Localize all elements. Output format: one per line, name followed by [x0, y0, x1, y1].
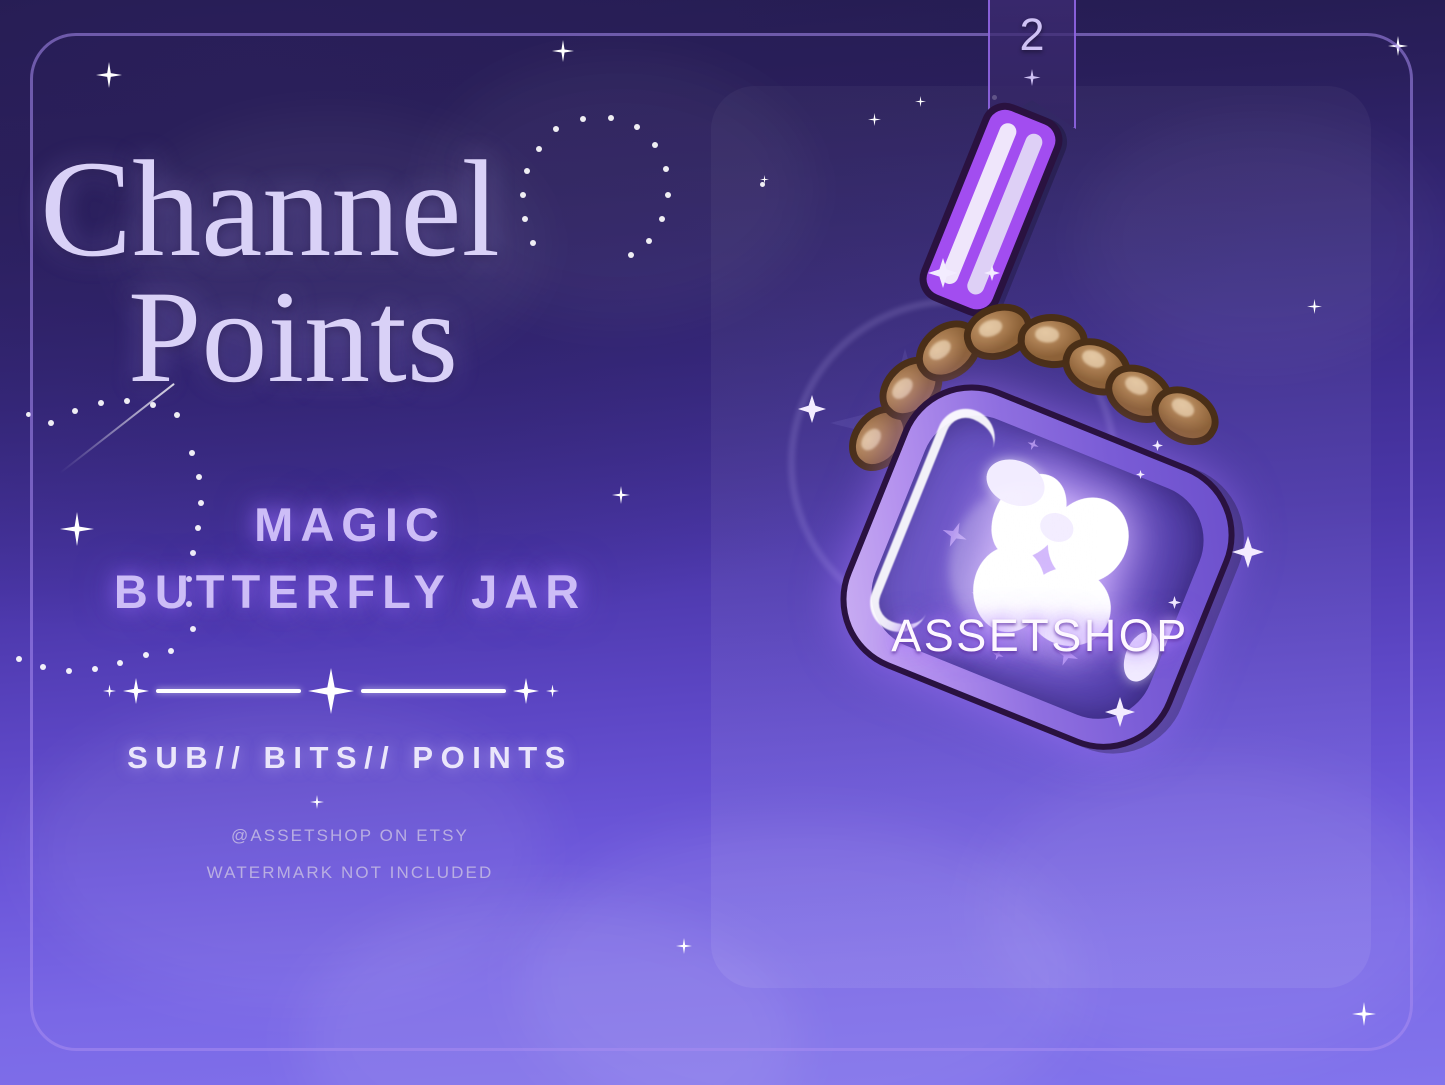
page-title: Channel Points [40, 143, 680, 399]
star-icon [1352, 1002, 1376, 1026]
sparkle-icon [103, 685, 116, 698]
poster-canvas: 2 Channel Points MAGIC BUTTERFLY JAR SUB… [0, 0, 1445, 1085]
subtitle-line-1: MAGIC [30, 492, 670, 559]
sparkle-icon [546, 685, 559, 698]
watermark: ASSETSHOP [766, 610, 1314, 662]
jar-group [657, 130, 1423, 891]
sparkle-icon [123, 678, 149, 704]
title-line-2: Points [40, 274, 680, 399]
sparkle-icon [308, 668, 354, 714]
footnote-shop: @ASSETSHOP ON ETSY [30, 818, 670, 855]
footnote-watermark: WATERMARK NOT INCLUDED [30, 855, 670, 892]
footnote: @ASSETSHOP ON ETSY WATERMARK NOT INCLUDE… [30, 818, 670, 891]
sparkle-icon [1024, 69, 1041, 86]
magic-butterfly-jar-artwork [760, 240, 1320, 780]
sparkle-icon [513, 678, 539, 704]
subtitle: MAGIC BUTTERFLY JAR [30, 492, 670, 625]
sparkle-icon [1025, 437, 1041, 453]
divider-line [361, 689, 506, 693]
decorative-divider [96, 668, 566, 714]
divider-line [156, 689, 301, 693]
star-icon [1388, 36, 1408, 56]
subtitle-line-2: BUTTERFLY JAR [30, 559, 670, 626]
ribbon-number: 2 [1019, 12, 1044, 57]
text-column: Channel Points MAGIC BUTTERFLY JAR SUB//… [0, 0, 700, 1085]
platform-list: SUB// BITS// POINTS [30, 740, 670, 776]
